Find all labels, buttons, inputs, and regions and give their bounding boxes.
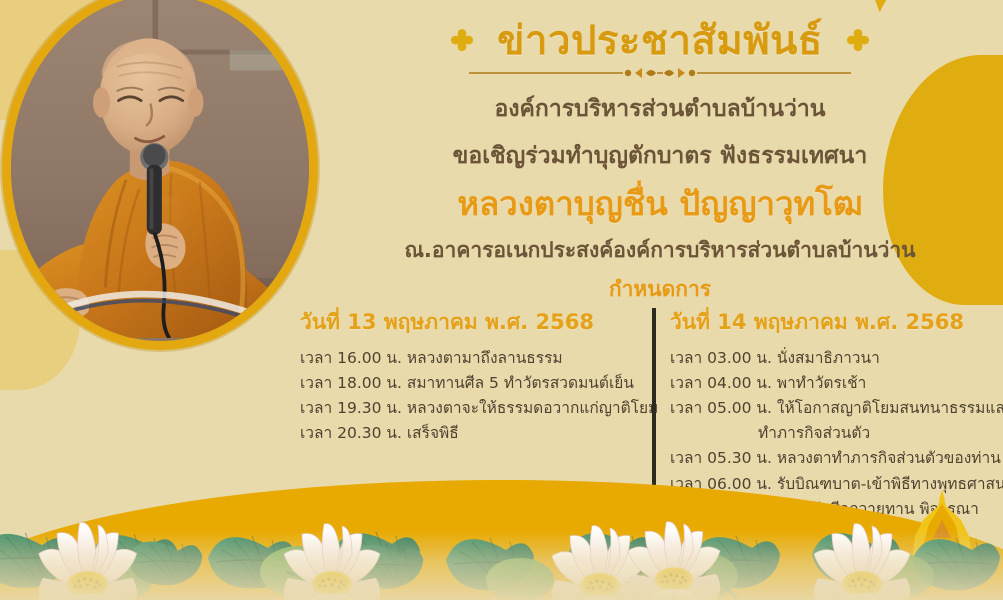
quatrefoil-ornament-right-icon (845, 28, 871, 54)
date-heading-day1: วันที่ 13 พฤษภาคม พ.ศ. 2568 (300, 306, 632, 339)
quatrefoil-ornament-left-icon (449, 28, 475, 54)
schedule-item: เวลา 05.00 น. ให้โอกาสญาติโยมสนทนาธรรมแล… (670, 396, 1000, 446)
organization-name: องค์การบริหารส่วนตำบลบ้านว่าน (330, 92, 990, 127)
title-row: ข่าวประชาสัมพันธ์ (330, 18, 990, 64)
schedule-item-continuation: ทำภารกิจส่วนตัว (670, 421, 1000, 446)
ornamental-divider-icon (465, 66, 855, 80)
monk-portrait-photo (2, 0, 318, 350)
schedule-item: เวลา 20.30 น. เสร็จพิธี (300, 421, 632, 446)
page-title: ข่าวประชาสัมพันธ์ (497, 18, 823, 64)
schedule-item-text: เวลา 04.00 น. พาทำวัตรเช้า (670, 374, 866, 392)
date-heading-day2: วันที่ 14 พฤษภาคม พ.ศ. 2568 (670, 306, 1000, 339)
schedule-item: เวลา 16.00 น. หลวงตามาถึงลานธรรม (300, 346, 632, 371)
schedule-item: เวลา 18.00 น. สมาทานศีล 5 ทำวัตรสวดมนต์เ… (300, 371, 632, 396)
agenda-label: กำหนดการ (330, 275, 990, 304)
band-fade-overlay (0, 530, 1003, 600)
schedule-item: เวลา 04.00 น. พาทำวัตรเช้า (670, 371, 1000, 396)
venue-text: ณ.อาคารอเนกประสงค์องค์การบริหารส่วนตำบลบ… (330, 235, 990, 267)
monk-portrait-image (11, 0, 309, 338)
schedule-item-text: เวลา 05.00 น. ให้โอกาสญาติโยมสนทนาธรรมแล… (670, 399, 1003, 417)
schedule-item: เวลา 03.00 น. นั่งสมาธิภาวนา (670, 346, 1000, 371)
schedule-item-text: เวลา 05.30 น. หลวงตาทำภารกิจส่วนตัวของท่… (670, 449, 1001, 467)
header-block: ข่าวประชาสัมพันธ์ องค์การบริหารส่วนตำบลบ… (330, 18, 990, 304)
monk-name: หลวงตาบุญชื่น ปัญญาวุทโฒ (330, 181, 990, 227)
schedule-item: เวลา 05.30 น. หลวงตาทำภารกิจส่วนตัวของท่… (670, 446, 1000, 471)
invitation-text: ขอเชิญร่วมทำบุญตักบาตร ฟังธรรมเทศนา (330, 139, 990, 174)
schedule-item-text: เวลา 03.00 น. นั่งสมาธิภาวนา (670, 349, 880, 367)
announcement-poster: ข่าวประชาสัมพันธ์ องค์การบริหารส่วนตำบลบ… (0, 0, 1003, 600)
schedule-item: เวลา 19.30 น. หลวงตาจะให้ธรรมดอวากแก่ญาต… (300, 396, 632, 421)
